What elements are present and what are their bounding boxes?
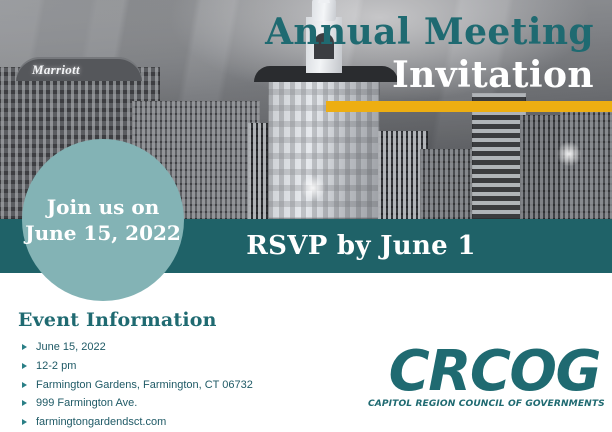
page-title-line2: Invitation [392, 57, 594, 93]
invitation-flyer: Marriott [0, 0, 612, 432]
triangle-bullet-icon [22, 419, 27, 425]
crcog-tagline: CAPITOL REGION COUNCIL OF GOVERNMENTS [368, 399, 600, 409]
triangle-bullet-icon [22, 344, 27, 350]
triangle-bullet-icon [22, 400, 27, 406]
gold-accent-bar [326, 101, 612, 112]
list-item-label: June 15, 2022 [36, 341, 106, 353]
window-grid [268, 79, 380, 219]
list-item-label: 999 Farmington Ave. [36, 397, 137, 409]
crcog-wordmark: CRCOG [368, 346, 600, 398]
list-item: 12-2 pm [22, 360, 253, 374]
building-edge-right [560, 101, 612, 219]
list-item: 999 Farmington Ave. [22, 397, 253, 411]
crcog-logo: CRCOG CAPITOL REGION COUNCIL OF GOVERNME… [368, 346, 600, 409]
event-details-list: June 15, 2022 12-2 pm Farmington Gardens… [22, 341, 253, 432]
join-us-badge: Join us on June 15, 2022 [22, 139, 184, 301]
list-item: June 15, 2022 [22, 341, 253, 355]
marriott-sign-text: Marriott [32, 62, 80, 78]
list-item-label: 12-2 pm [36, 360, 76, 372]
triangle-bullet-icon [22, 382, 27, 388]
list-item-label: Farmington Gardens, Farmington, CT 06732 [36, 379, 253, 391]
badge-line1: Join us on [47, 194, 160, 220]
badge-line2: June 15, 2022 [25, 220, 181, 246]
event-information-heading: Event Information [18, 309, 217, 331]
church-spire [318, 0, 330, 3]
triangle-bullet-icon [22, 363, 27, 369]
list-item: farmingtongardendsct.com [22, 416, 253, 430]
window-grid [560, 101, 612, 219]
page-title-line1: Annual Meeting [265, 14, 594, 50]
building-church [268, 79, 380, 219]
list-item-label[interactable]: farmingtongardendsct.com [36, 416, 166, 428]
list-item: Farmington Gardens, Farmington, CT 06732 [22, 379, 253, 393]
